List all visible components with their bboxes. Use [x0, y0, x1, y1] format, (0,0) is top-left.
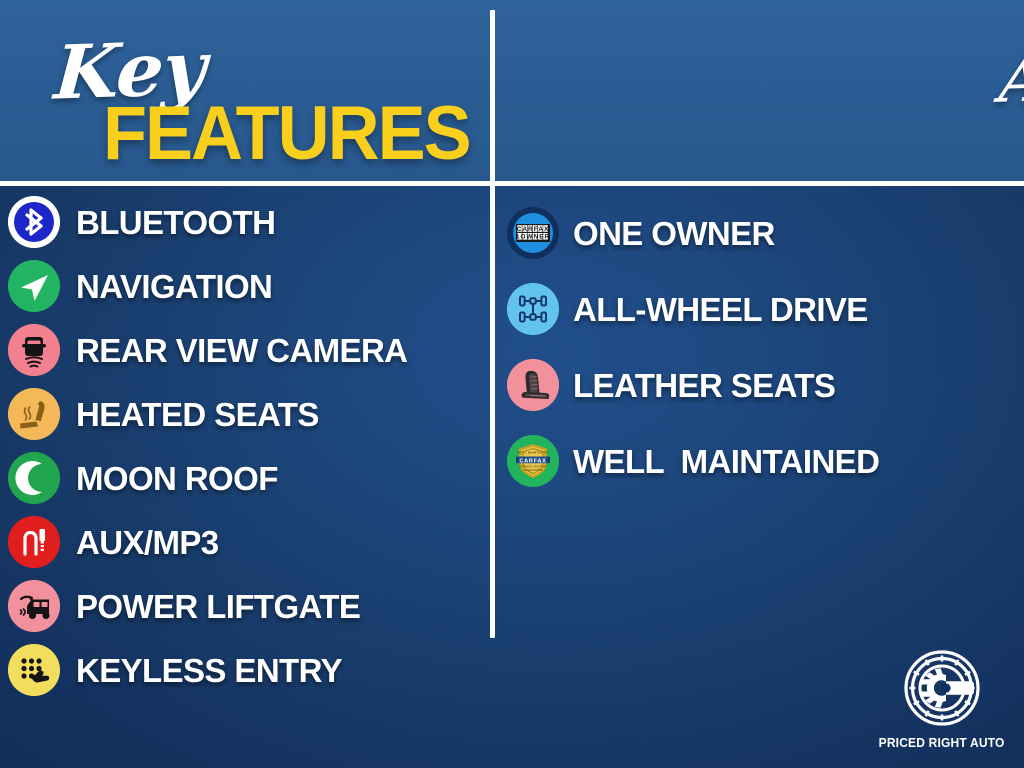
power-liftgate-icon [8, 580, 60, 632]
added-script-title: Added [997, 36, 1024, 116]
list-item-label: NAVIGATION [76, 270, 272, 303]
list-item-label: AUX/MP3 [76, 526, 219, 559]
navigation-arrow-icon [8, 260, 60, 312]
list-item: KEYLESS ENTRY [0, 638, 486, 702]
list-item: MOON ROOF [0, 446, 486, 510]
all-wheel-drive-icon [507, 283, 559, 335]
heated-seat-icon [8, 388, 60, 440]
list-item-label: POWER LIFTGATE [76, 590, 360, 623]
column-divider-rule [490, 10, 495, 638]
header-divider-rule [0, 181, 1024, 186]
list-item-label: REAR VIEW CAMERA [76, 334, 407, 367]
list-item: BLUETOOTH [0, 190, 486, 254]
leather-seat-icon [507, 359, 559, 411]
added-values-list: CARFAX 1OWNER ONE OWNER [497, 195, 1024, 499]
svg-text:GUARANTEE: GUARANTEE [523, 468, 543, 472]
list-item: CARFAX 1OWNER ONE OWNER [497, 195, 1024, 271]
header-right-group: Added VALUES [497, 0, 1024, 181]
header-left-group: Key FEATURES [0, 0, 492, 181]
list-item-label: ALL-WHEEL DRIVE [573, 293, 868, 326]
list-item: ALL-WHEEL DRIVE [497, 271, 1024, 347]
list-item: HEATED SEATS [0, 382, 486, 446]
keypad-entry-icon [8, 644, 60, 696]
carfax-one-owner-badge-icon: CARFAX 1OWNER [507, 207, 559, 259]
rear-view-camera-icon [8, 324, 60, 376]
aux-cable-icon [8, 516, 60, 568]
list-item: POWER LIFTGATE [0, 574, 486, 638]
list-item-label: WELL MAINTAINED [573, 445, 879, 478]
key-features-list: BLUETOOTH NAVIGATION [0, 190, 486, 702]
list-item: AUX/MP3 [0, 510, 486, 574]
poster-header: Key FEATURES Added VALUES [0, 0, 1024, 181]
list-item: REAR VIEW CAMERA [0, 318, 486, 382]
list-item-label: ONE OWNER [573, 217, 775, 250]
list-item-label: MOON ROOF [76, 462, 278, 495]
gear-wrench-circle-logo-icon [896, 647, 988, 733]
moon-icon [8, 452, 60, 504]
list-item-label: KEYLESS ENTRY [76, 654, 342, 687]
carfax-service-badge-icon: WELL MAINTAINED CARFAX SERVICE HISTORY G… [507, 435, 559, 487]
list-item-label: HEATED SEATS [76, 398, 319, 431]
brand-logo: PRICED RIGHT AUTO [884, 640, 1000, 750]
features-poster: Key FEATURES Added VALUES BLUETOOTH [0, 0, 1024, 768]
list-item: NAVIGATION [0, 254, 486, 318]
svg-text:CARFAX: CARFAX [519, 458, 546, 464]
list-item-label: BLUETOOTH [76, 206, 275, 239]
bluetooth-icon [8, 196, 60, 248]
features-title: FEATURES [103, 90, 470, 177]
svg-text:CARFAX: CARFAX [517, 226, 550, 233]
brand-name: PRICED RIGHT AUTO [879, 736, 1005, 750]
list-item: LEATHER SEATS [497, 347, 1024, 423]
list-item-label: LEATHER SEATS [573, 369, 835, 402]
list-item: WELL MAINTAINED CARFAX SERVICE HISTORY G… [497, 423, 1024, 499]
svg-text:1OWNER: 1OWNER [516, 234, 550, 241]
svg-text:WELL MAINTAINED: WELL MAINTAINED [518, 451, 550, 455]
